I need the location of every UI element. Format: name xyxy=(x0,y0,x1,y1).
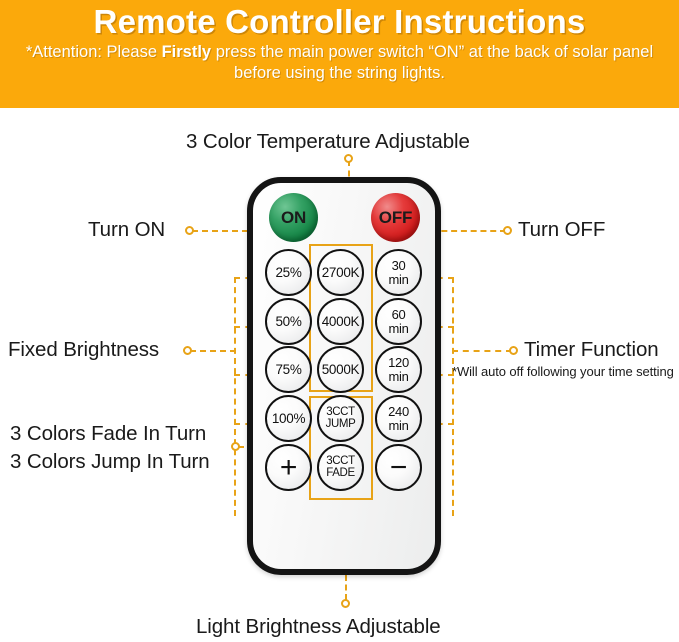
callout-fade-in-turn: 3 Colors Fade In Turn xyxy=(10,422,206,446)
timer-120min-line2: min xyxy=(388,370,408,383)
power-off-button[interactable]: OFF xyxy=(371,193,420,242)
brightness-decrease-label: − xyxy=(390,453,407,483)
callout-fixed-brightness: Fixed Brightness xyxy=(8,338,159,362)
brightness-50-label: 50% xyxy=(275,315,301,329)
color-temp-5000k-label: 5000K xyxy=(322,363,360,377)
timer-60min-line2: min xyxy=(388,322,408,335)
timer-30min-line1: 30 xyxy=(392,259,406,272)
timer-30min-line2: min xyxy=(388,273,408,286)
brightness-100-button[interactable]: 100% xyxy=(265,395,312,442)
callout-timer-note: *Will auto off following your time setti… xyxy=(452,364,674,379)
color-temp-4000k-button[interactable]: 4000K xyxy=(317,298,364,345)
brightness-decrease-button[interactable]: − xyxy=(375,444,422,491)
subtitle-text-after: press the main power switch “ON” at the … xyxy=(211,43,653,82)
mode-3cct-fade-button[interactable]: 3CCT FADE xyxy=(317,444,364,491)
callout-turn-on: Turn ON xyxy=(88,218,165,242)
connector-fixed-brightness-stem xyxy=(190,350,236,352)
connector-node-turn-on xyxy=(185,226,194,235)
timer-240min-line1: 240 xyxy=(388,405,409,418)
brightness-50-button[interactable]: 50% xyxy=(265,298,312,345)
color-temp-2700k-label: 2700K xyxy=(322,266,360,280)
mode-3cct-fade-line2: FADE xyxy=(326,468,354,480)
remote-control-body: ON OFF 25% 50% 75% 100% 2700K 4000K 5000… xyxy=(247,177,441,575)
connector-timer-bracket-vertical xyxy=(452,277,454,516)
timer-120min-button[interactable]: 120 min xyxy=(375,346,422,393)
brightness-25-label: 25% xyxy=(275,266,301,280)
callout-light-brightness: Light Brightness Adjustable xyxy=(196,615,441,639)
callout-jump-in-turn: 3 Colors Jump In Turn xyxy=(10,450,210,474)
brightness-25-button[interactable]: 25% xyxy=(265,249,312,296)
brightness-increase-label: + xyxy=(280,453,297,483)
brightness-75-button[interactable]: 75% xyxy=(265,346,312,393)
connector-brightness-bracket-vertical xyxy=(234,277,236,516)
power-on-label: ON xyxy=(281,209,306,226)
color-temp-4000k-label: 4000K xyxy=(322,315,360,329)
mode-3cct-jump-line1: 3CCT xyxy=(326,407,354,419)
connector-timer-function-stem xyxy=(452,350,512,352)
power-off-label: OFF xyxy=(379,209,412,226)
timer-240min-line2: min xyxy=(388,419,408,432)
timer-240min-button[interactable]: 240 min xyxy=(375,395,422,442)
mode-3cct-jump-line2: JUMP xyxy=(326,419,356,431)
power-on-button[interactable]: ON xyxy=(269,193,318,242)
brightness-increase-button[interactable]: + xyxy=(265,444,312,491)
page-title: Remote Controller Instructions xyxy=(0,0,679,41)
subtitle-text-before: *Attention: Please xyxy=(26,43,162,61)
timer-60min-line1: 60 xyxy=(392,308,406,321)
mode-3cct-fade-line1: 3CCT xyxy=(326,456,354,468)
timer-60min-button[interactable]: 60 min xyxy=(375,298,422,345)
connector-node-turn-off xyxy=(503,226,512,235)
connector-node-light-brightness xyxy=(341,599,350,608)
timer-30min-button[interactable]: 30 min xyxy=(375,249,422,296)
connector-node-colors-fade-jump xyxy=(231,442,240,451)
color-temp-2700k-button[interactable]: 2700K xyxy=(317,249,364,296)
brightness-100-label: 100% xyxy=(272,412,305,426)
brightness-75-label: 75% xyxy=(275,363,301,377)
color-temp-5000k-button[interactable]: 5000K xyxy=(317,346,364,393)
callout-turn-off: Turn OFF xyxy=(518,218,605,242)
header-subtitle: *Attention: Please Firstly press the mai… xyxy=(18,42,661,84)
connector-node-fixed-brightness xyxy=(183,346,192,355)
callout-timer-function: Timer Function xyxy=(524,338,659,362)
connector-node-color-temperature xyxy=(344,154,353,163)
subtitle-emphasis: Firstly xyxy=(162,43,212,61)
timer-120min-line1: 120 xyxy=(388,356,409,369)
connector-node-timer-function xyxy=(509,346,518,355)
header-banner: Remote Controller Instructions *Attentio… xyxy=(0,0,679,108)
mode-3cct-jump-button[interactable]: 3CCT JUMP xyxy=(317,395,364,442)
callout-color-temperature: 3 Color Temperature Adjustable xyxy=(186,130,470,154)
